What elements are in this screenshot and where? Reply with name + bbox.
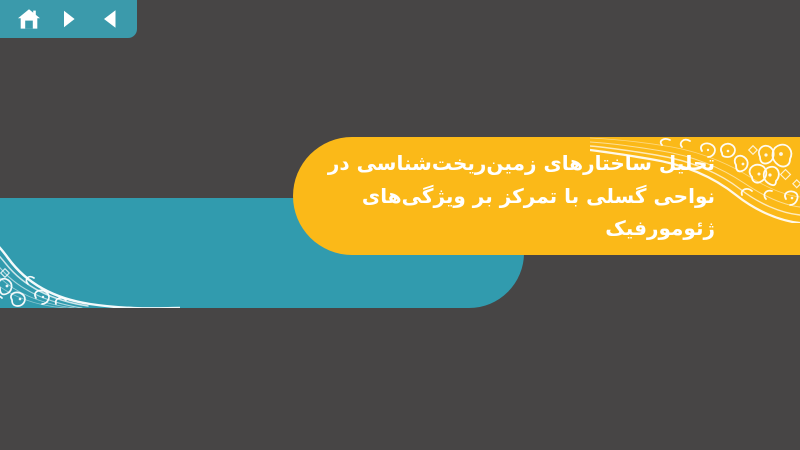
teal-filigree-ornament [0, 198, 180, 308]
slide-canvas: تحلیل ساختارهای زمین‌ریخت‌شناسی در نواحی… [0, 0, 800, 450]
slide-navigation-bar [0, 0, 137, 38]
previous-slide-button[interactable] [97, 6, 123, 32]
home-icon [17, 8, 41, 30]
triangle-right-icon [62, 9, 77, 29]
home-button[interactable] [16, 6, 42, 32]
next-slide-button[interactable] [57, 6, 83, 32]
triangle-left-icon [101, 9, 119, 29]
orange-filigree-ornament [590, 137, 800, 223]
orange-title-banner [293, 137, 800, 255]
